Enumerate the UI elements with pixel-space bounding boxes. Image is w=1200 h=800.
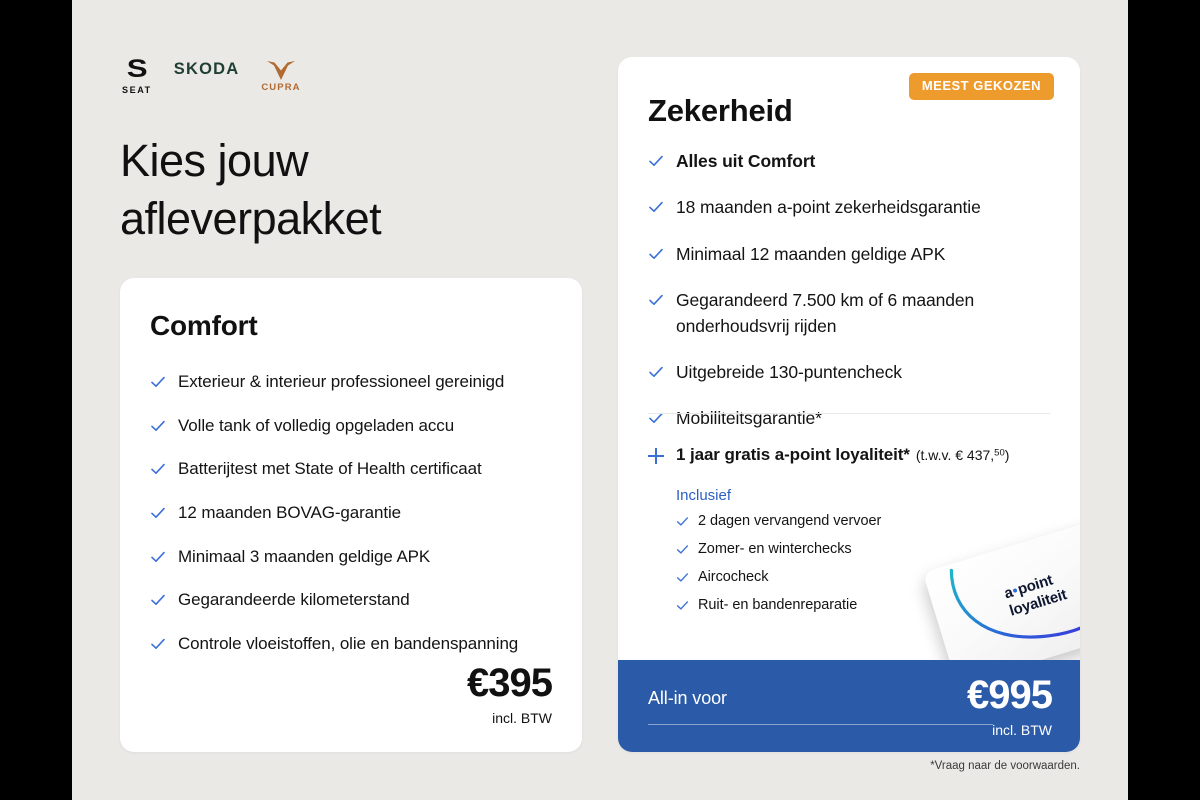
list-item-label: Ruit- en bandenreparatie [698, 596, 857, 615]
screen: S SEAT SKODA CUPRA Kies jouw afleverpakk… [0, 0, 1200, 800]
comfort-price-vat-note: incl. BTW [467, 710, 552, 726]
list-item: Gegarandeerde kilometerstand [150, 588, 554, 613]
list-item-label: Minimaal 12 maanden geldige APK [676, 242, 945, 267]
cupra-mark-icon [266, 59, 296, 81]
check-icon [676, 599, 689, 612]
list-item: Gegarandeerd 7.500 km of 6 maanden onder… [648, 288, 1060, 339]
list-item: 2 dagen vervangend vervoer [676, 512, 1058, 531]
check-icon [150, 505, 166, 521]
list-item: 18 maanden a-point zekerheidsgarantie [648, 195, 1060, 220]
package-card-zekerheid[interactable]: MEEST GEKOZEN Zekerheid Alles uit Comfor… [618, 57, 1080, 752]
bonus-value: (t.w.v. € 437,50) [916, 447, 1010, 463]
check-icon [150, 549, 166, 565]
check-icon [150, 418, 166, 434]
list-item-label: Exterieur & interieur professioneel gere… [178, 370, 504, 395]
check-icon [150, 374, 166, 390]
seat-wordmark: SEAT [122, 85, 152, 95]
plus-icon [648, 448, 664, 464]
page-canvas: S SEAT SKODA CUPRA Kies jouw afleverpakk… [72, 0, 1128, 800]
comfort-feature-list: Exterieur & interieur professioneel gere… [150, 370, 554, 675]
bonus-value-cents: 50 [994, 448, 1005, 459]
list-item: Uitgebreide 130-puntencheck [648, 360, 1060, 385]
letterbox-left [0, 0, 72, 800]
list-item: Minimaal 12 maanden geldige APK [648, 242, 1060, 267]
list-item-label: Aircocheck [698, 568, 768, 587]
check-icon [676, 543, 689, 556]
bonus-title: 1 jaar gratis a-point loyaliteit* [676, 445, 910, 464]
check-icon [676, 515, 689, 528]
brand-logo-row: S SEAT SKODA CUPRA [122, 56, 301, 95]
list-item-label: 12 maanden BOVAG-garantie [178, 501, 401, 526]
check-icon [648, 292, 664, 308]
zekerheid-price-block: €995 incl. BTW [967, 675, 1052, 738]
bonus-value-prefix: (t.w.v. € 437, [916, 447, 994, 463]
check-icon [150, 592, 166, 608]
list-item: Mobiliteitsgarantie* [648, 406, 1060, 431]
check-icon [150, 636, 166, 652]
list-item-label: Gegarandeerde kilometerstand [178, 588, 410, 613]
list-item: Batterijtest met State of Health certifi… [150, 457, 554, 482]
inclusief-label: Inclusief [676, 487, 1058, 504]
package-card-comfort[interactable]: Comfort Exterieur & interieur profession… [120, 278, 582, 752]
comfort-price-block: €395 incl. BTW [467, 663, 552, 726]
list-item-label: Gegarandeerd 7.500 km of 6 maanden onder… [676, 288, 1060, 339]
check-icon [676, 571, 689, 584]
list-item: Controle vloeistoffen, olie en bandenspa… [150, 632, 554, 657]
footnote: *Vraag naar de voorwaarden. [930, 760, 1080, 772]
zekerheid-price-vat-note: incl. BTW [967, 722, 1052, 738]
zekerheid-price-bar: All-in voor €995 incl. BTW [618, 660, 1080, 752]
comfort-price-amount: €395 [467, 663, 552, 703]
seat-mark-icon: S [120, 56, 154, 83]
bonus-header: 1 jaar gratis a-point loyaliteit*(t.w.v.… [648, 445, 1058, 465]
check-icon [648, 246, 664, 262]
status-badge: MEEST GEKOZEN [909, 73, 1054, 100]
divider [648, 413, 1050, 414]
list-item: Minimaal 3 maanden geldige APK [150, 545, 554, 570]
list-item-label: Uitgebreide 130-puntencheck [676, 360, 902, 385]
check-icon [150, 461, 166, 477]
list-item: Alles uit Comfort [648, 149, 1060, 174]
check-icon [648, 199, 664, 215]
list-item-label: Minimaal 3 maanden geldige APK [178, 545, 430, 570]
zekerheid-title: Zekerheid [648, 93, 793, 129]
seat-logo: S SEAT [122, 56, 152, 95]
list-item-label: Volle tank of volledig opgeladen accu [178, 414, 454, 439]
allin-label: All-in voor [648, 688, 727, 709]
list-item-label: 2 dagen vervangend vervoer [698, 512, 881, 531]
page-title: Kies jouw afleverpakket [120, 132, 550, 247]
bonus-value-suffix: ) [1005, 447, 1010, 463]
cupra-wordmark: CUPRA [261, 82, 300, 93]
cupra-logo: CUPRA [261, 59, 300, 93]
list-item-label: Mobiliteitsgarantie* [676, 406, 822, 431]
letterbox-right [1128, 0, 1200, 800]
check-icon [648, 364, 664, 380]
list-item: Exterieur & interieur professioneel gere… [150, 370, 554, 395]
price-rule [648, 724, 993, 725]
list-item-label: Controle vloeistoffen, olie en bandenspa… [178, 632, 518, 657]
list-item-label: Alles uit Comfort [676, 149, 815, 174]
list-item: 12 maanden BOVAG-garantie [150, 501, 554, 526]
list-item: Volle tank of volledig opgeladen accu [150, 414, 554, 439]
zekerheid-feature-list: Alles uit Comfort 18 maanden a-point zek… [648, 149, 1060, 453]
list-item-label: Batterijtest met State of Health certifi… [178, 457, 482, 482]
zekerheid-price-amount: €995 [967, 675, 1052, 715]
list-item-label: Zomer- en winterchecks [698, 540, 852, 559]
comfort-title: Comfort [150, 310, 257, 342]
check-icon [648, 153, 664, 169]
skoda-logo: SKODA [174, 60, 240, 79]
list-item-label: 18 maanden a-point zekerheidsgarantie [676, 195, 981, 220]
